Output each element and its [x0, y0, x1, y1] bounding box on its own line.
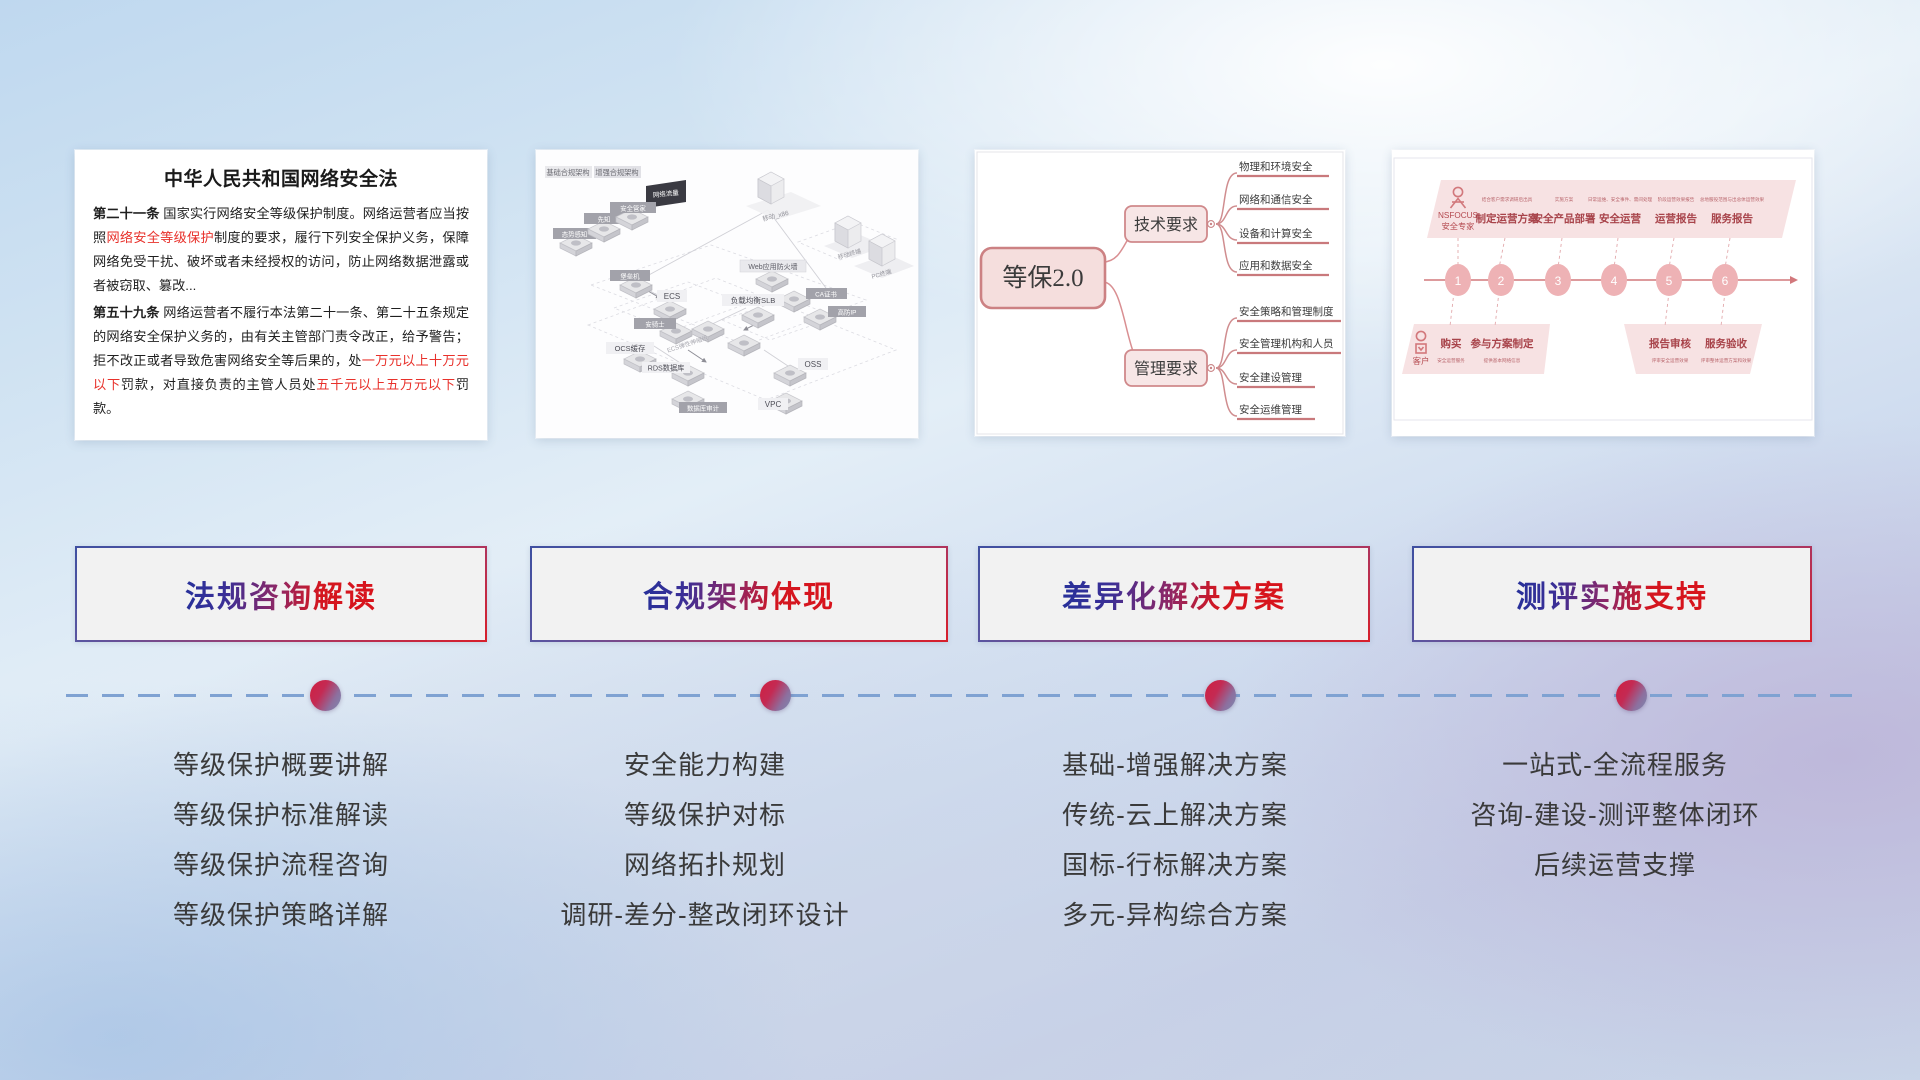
svg-text:参与方案制定: 参与方案制定 [1471, 337, 1534, 350]
service-flow-diagram: NSFOCUS 安全专家 客户 [1392, 150, 1814, 436]
headline-label-4: 测评实施支持 [1516, 572, 1708, 616]
expert-name: NSFOCUS [1438, 211, 1479, 220]
mindmap-branch-management: 管理要求 [1125, 350, 1214, 386]
article-21-label: 第二十一条 [93, 206, 160, 221]
svg-text:总地服役范围与出总体运营效果: 总地服役范围与出总体运营效果 [1700, 196, 1765, 203]
mindmap-diagram: 等保2.0 技术要求 [975, 150, 1345, 436]
list-item: 等级保护概要讲解 [75, 740, 487, 790]
svg-text:CA证书: CA证书 [815, 289, 837, 298]
list-item: 基础-增强解决方案 [955, 740, 1395, 790]
svg-text:安全产品部署: 安全产品部署 [1533, 212, 1596, 225]
svg-text:安全运维管理: 安全运维管理 [1239, 403, 1302, 416]
svg-text:先知: 先知 [598, 214, 611, 223]
screenshot-card-row: 中华人民共和国网络安全法 第二十一条 国家实行网络安全等级保护制度。网络运营者应… [0, 150, 1920, 445]
list-item: 等级保护对标 [470, 790, 940, 840]
list-item: 安全能力构建 [470, 740, 940, 790]
svg-text:设备和计算安全: 设备和计算安全 [1239, 227, 1313, 240]
timeline-rail [66, 694, 1854, 697]
svg-text:ECS: ECS [664, 292, 680, 301]
svg-text:数据库审计: 数据库审计 [687, 403, 720, 412]
list-item: 网络拓扑规划 [470, 840, 940, 890]
detail-list-row: 等级保护概要讲解 等级保护标准解读 等级保护流程咨询 等级保护策略详解 安全能力… [0, 740, 1920, 980]
headline-label-2: 合规架构体现 [643, 572, 835, 616]
expert-role: 安全专家 [1442, 221, 1475, 231]
card-cybersecurity-law[interactable]: 中华人民共和国网络安全法 第二十一条 国家实行网络安全等级保护制度。网络运营者应… [75, 150, 487, 440]
svg-text:高防IP: 高防IP [838, 307, 857, 316]
law-article-59: 第五十九条 网络运营者不履行本法第二十一条、第二十五条规定的网络安全保护义务的，… [93, 301, 469, 421]
timeline-dot-3[interactable] [1205, 680, 1236, 711]
card-service-flow[interactable]: NSFOCUS 安全专家 客户 [1392, 150, 1814, 436]
list-item: 咨询-建设-测评整体闭环 [1400, 790, 1830, 840]
svg-text:安全运营服务: 安全运营服务 [1437, 357, 1465, 364]
svg-text:安骑士: 安骑士 [645, 319, 665, 328]
list-item: 多元-异构综合方案 [955, 890, 1395, 940]
headline-box-4[interactable]: 测评实施支持 [1412, 546, 1812, 642]
svg-text:日常运维、安全事件、需间处理: 日常运维、安全事件、需间处理 [1588, 196, 1653, 203]
list-item: 一站式-全流程服务 [1400, 740, 1830, 790]
svg-text:购买: 购买 [1441, 337, 1463, 350]
list-item: 后续运营支撑 [1400, 840, 1830, 890]
mindmap-branch-management-label: 管理要求 [1134, 360, 1198, 378]
detail-column-1: 等级保护概要讲解 等级保护标准解读 等级保护流程咨询 等级保护策略详解 [75, 740, 487, 940]
svg-text:评审安全运营效果: 评审安全运营效果 [1652, 357, 1689, 364]
svg-text:物理和环境安全: 物理和环境安全 [1239, 160, 1313, 173]
svg-text:3: 3 [1555, 274, 1562, 288]
mindmap-root-node: 等保2.0 [981, 248, 1105, 308]
svg-text:Web应用防火墙: Web应用防火墙 [748, 262, 797, 271]
svg-text:4: 4 [1611, 274, 1618, 288]
svg-text:提供基本网络信息: 提供基本网络信息 [1484, 357, 1521, 364]
timeline-dot-1[interactable] [310, 680, 341, 711]
timeline-dot-4[interactable] [1616, 680, 1647, 711]
timeline-dot-2[interactable] [760, 680, 791, 711]
svg-text:网络和通信安全: 网络和通信安全 [1239, 193, 1313, 206]
law-article-21: 第二十一条 国家实行网络安全等级保护制度。网络运营者应当按照网络安全等级保护制度… [93, 202, 469, 298]
article-21-highlight: 网络安全等级保护 [106, 230, 214, 245]
list-item: 国标-行标解决方案 [955, 840, 1395, 890]
detail-column-3: 基础-增强解决方案 传统-云上解决方案 国标-行标解决方案 多元-异构综合方案 [955, 740, 1395, 940]
svg-text:6: 6 [1722, 274, 1729, 288]
svg-text:运营报告: 运营报告 [1655, 212, 1697, 225]
svg-text:安全建设管理: 安全建设管理 [1239, 371, 1302, 384]
svg-text:实施方案: 实施方案 [1555, 196, 1574, 203]
customer-role: 客户 [1413, 356, 1430, 366]
detail-column-4: 一站式-全流程服务 咨询-建设-测评整体闭环 后续运营支撑 [1400, 740, 1830, 890]
svg-text:制定运营方案: 制定运营方案 [1476, 212, 1539, 225]
card-mindmap-dengbao[interactable]: 等保2.0 技术要求 [975, 150, 1345, 436]
list-item: 调研-差分-整改闭环设计 [470, 890, 940, 940]
svg-text:1: 1 [1455, 274, 1462, 288]
svg-text:安全管理机构和人员: 安全管理机构和人员 [1239, 337, 1334, 350]
headline-row: 法规咨询解读 合规架构体现 差异化解决方案 测评实施支持 [0, 546, 1920, 644]
list-item: 等级保护流程咨询 [75, 840, 487, 890]
detail-column-2: 安全能力构建 等级保护对标 网络拓扑规划 调研-差分-整改闭环设计 [470, 740, 940, 940]
svg-text:评审整体运营方案和效果: 评审整体运营方案和效果 [1701, 357, 1752, 364]
svg-text:结合客户需求调研后出具: 结合客户需求调研后出具 [1482, 196, 1533, 203]
svg-text:安全策略和管理制度: 安全策略和管理制度 [1239, 305, 1334, 318]
list-item: 等级保护标准解读 [75, 790, 487, 840]
svg-text:报告审核: 报告审核 [1649, 337, 1691, 350]
svg-text:安全运营: 安全运营 [1599, 212, 1641, 225]
arch-tab-basic[interactable]: 基础合规架构 [546, 168, 589, 177]
svg-text:应用和数据安全: 应用和数据安全 [1239, 259, 1313, 272]
svg-text:OSS: OSS [805, 360, 822, 369]
arch-tab-enhanced[interactable]: 增强合规架构 [595, 168, 638, 177]
headline-label-1: 法规咨询解读 [185, 572, 377, 616]
architecture-svg: 基础合规架构 增强合规架构 网络流量 [536, 150, 918, 438]
law-title: 中华人民共和国网络安全法 [93, 164, 469, 191]
mindmap-svg: 等保2.0 技术要求 [975, 150, 1345, 436]
card-cloud-architecture[interactable]: 基础合规架构 增强合规架构 网络流量 [536, 150, 918, 438]
article-59-label: 第五十九条 [93, 305, 160, 320]
mindmap-branch-technical-label: 技术要求 [1134, 216, 1198, 234]
svg-text:服务验收: 服务验收 [1705, 337, 1747, 350]
svg-text:5: 5 [1666, 274, 1673, 288]
headline-box-3[interactable]: 差异化解决方案 [978, 546, 1370, 642]
mindmap-branch-technical: 技术要求 [1125, 206, 1214, 242]
svg-text:OCS缓存: OCS缓存 [615, 344, 646, 353]
service-flow-svg: NSFOCUS 安全专家 客户 [1392, 150, 1814, 436]
svg-text:态势感知: 态势感知 [562, 229, 588, 238]
svg-text:服务报告: 服务报告 [1711, 212, 1753, 225]
svg-text:阶段运营效果报告: 阶段运营效果报告 [1658, 196, 1695, 203]
article-59-text-b: 罚款，对直接负责的主管人员处 [121, 377, 316, 392]
svg-text:VPC: VPC [765, 400, 782, 409]
headline-box-2[interactable]: 合规架构体现 [530, 546, 948, 642]
svg-text:堡垒机: 堡垒机 [620, 271, 640, 280]
architecture-diagram: 基础合规架构 增强合规架构 网络流量 [536, 150, 918, 438]
svg-text:RDS数据库: RDS数据库 [648, 364, 685, 373]
headline-label-3: 差异化解决方案 [1062, 572, 1286, 616]
svg-text:负载均衡SLB: 负载均衡SLB [731, 295, 776, 305]
article-59-highlight-b: 五千元以上五万元以下 [316, 377, 456, 392]
svg-text:安全管家: 安全管家 [620, 203, 646, 212]
headline-box-1[interactable]: 法规咨询解读 [75, 546, 487, 642]
law-text-body: 中华人民共和国网络安全法 第二十一条 国家实行网络安全等级保护制度。网络运营者应… [75, 150, 487, 431]
poster-canvas: 中华人民共和国网络安全法 第二十一条 国家实行网络安全等级保护制度。网络运营者应… [0, 0, 1920, 1080]
svg-text:2: 2 [1498, 274, 1505, 288]
list-item: 等级保护策略详解 [75, 890, 487, 940]
mindmap-root-label: 等保2.0 [1002, 264, 1083, 292]
list-item: 传统-云上解决方案 [955, 790, 1395, 840]
